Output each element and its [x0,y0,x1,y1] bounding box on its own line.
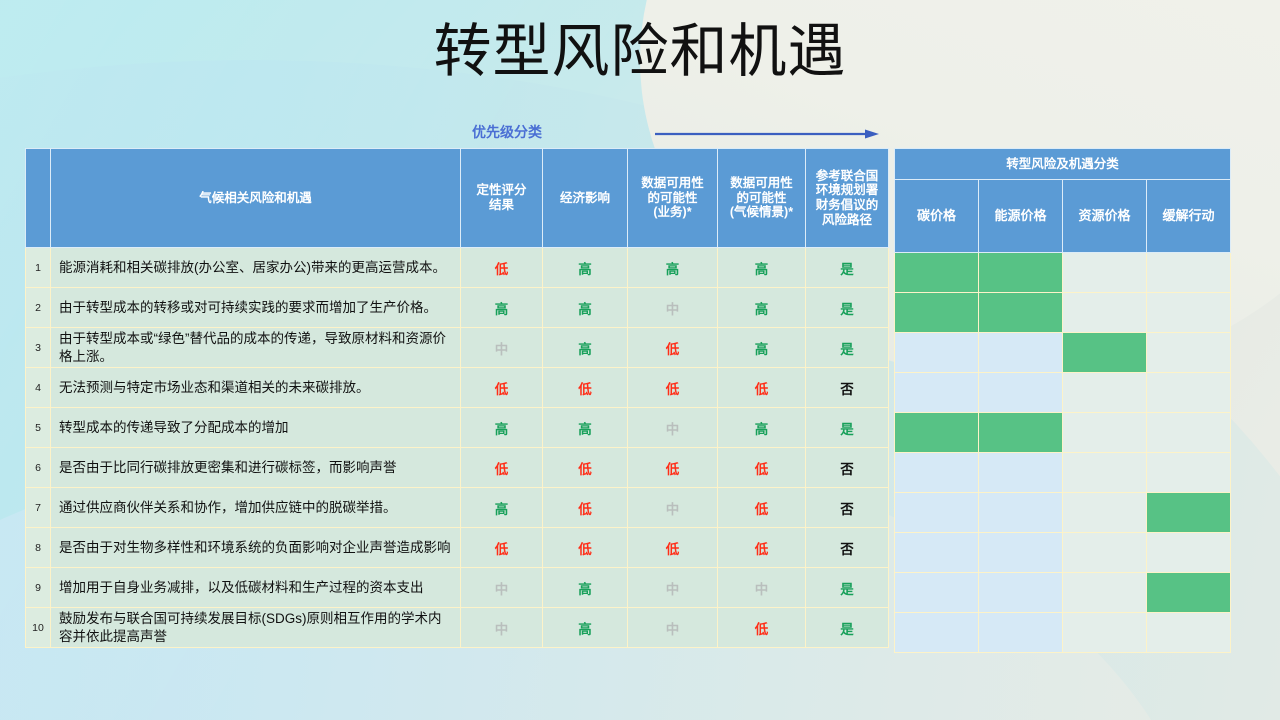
row-data-availability-climate-value: 中 [755,582,769,597]
category-cell-2 [979,413,1063,453]
category-cell-1 [895,293,979,333]
row-economic-impact: 高 [543,288,628,328]
row-data-availability-business-value: 低 [666,542,680,557]
col-header-category-3: 资源价格 [1063,180,1147,253]
row-qualitative-score: 低 [461,528,543,568]
priority-arrow-icon [655,128,879,140]
row-unep-pathway: 否 [806,368,889,408]
row-qualitative-score-value: 低 [495,462,509,477]
row-unep-pathway: 是 [806,408,889,448]
category-cell-2 [979,293,1063,333]
row-data-availability-climate: 低 [718,528,806,568]
row-economic-impact: 低 [543,448,628,488]
row-data-availability-climate: 高 [718,288,806,328]
row-unep-pathway: 是 [806,328,889,368]
row-description: 转型成本的传递导致了分配成本的增加 [51,408,461,448]
row-economic-impact: 低 [543,488,628,528]
category-cell-2 [979,573,1063,613]
row-data-availability-climate-value: 高 [755,262,769,277]
row-data-availability-business: 中 [628,288,718,328]
row-qualitative-score: 高 [461,288,543,328]
page-title: 转型风险和机遇 [0,22,1280,83]
row-data-availability-business-value: 中 [666,622,680,637]
row-unep-pathway-value: 是 [840,622,854,637]
category-cell-2 [979,493,1063,533]
row-economic-impact: 高 [543,328,628,368]
category-row [895,293,1231,333]
row-unep-pathway: 是 [806,248,889,288]
category-cell-1 [895,453,979,493]
row-description: 由于转型成本的转移或对可持续实践的要求而增加了生产价格。 [51,288,461,328]
row-data-availability-climate: 低 [718,608,806,648]
table-row: 7通过供应商伙伴关系和协作，增加供应链中的脱碳举措。高低中低否 [26,488,889,528]
row-unep-pathway-value: 是 [840,422,854,437]
category-cell-4 [1147,453,1231,493]
row-unep-pathway: 否 [806,448,889,488]
row-number: 6 [26,448,51,488]
row-data-availability-business-value: 中 [666,582,680,597]
row-economic-impact: 高 [543,408,628,448]
category-table-body [895,253,1231,653]
category-cell-1 [895,373,979,413]
row-unep-pathway: 是 [806,608,889,648]
row-qualitative-score-value: 中 [495,622,509,637]
row-data-availability-climate-value: 低 [755,622,769,637]
risk-table-head: 气候相关风险和机遇 定性评分结果 经济影响 数据可用性的可能性(业务)* 数据可… [26,149,889,248]
category-cell-4 [1147,373,1231,413]
row-number: 8 [26,528,51,568]
table-row: 9增加用于自身业务减排，以及低碳材料和生产过程的资本支出中高中中是 [26,568,889,608]
row-unep-pathway-value: 否 [840,542,854,557]
row-data-availability-business-value: 中 [666,302,680,317]
table-row: 3由于转型成本或“绿色”替代品的成本的传递，导致原材料和资源价格上涨。中高低高是 [26,328,889,368]
category-table: 转型风险及机遇分类 碳价格能源价格资源价格缓解行动 [894,148,1231,653]
row-qualitative-score-value: 高 [495,502,509,517]
row-number: 3 [26,328,51,368]
category-cell-4 [1147,573,1231,613]
row-data-availability-climate: 低 [718,488,806,528]
col-header-data-availability-business: 数据可用性的可能性(业务)* [628,149,718,248]
row-unep-pathway-value: 是 [840,262,854,277]
col-header-category-2: 能源价格 [979,180,1063,253]
col-header-number [26,149,51,248]
row-description: 能源消耗和相关碳排放(办公室、居家办公)带来的更高运营成本。 [51,248,461,288]
row-economic-impact-value: 低 [578,382,592,397]
row-unep-pathway-value: 是 [840,582,854,597]
row-data-availability-climate: 高 [718,328,806,368]
row-qualitative-score: 中 [461,568,543,608]
row-unep-pathway-value: 否 [840,462,854,477]
category-cell-2 [979,453,1063,493]
row-unep-pathway: 否 [806,528,889,568]
table-row: 8是否由于对生物多样性和环境系统的负面影响对企业声誉造成影响低低低低否 [26,528,889,568]
row-qualitative-score: 中 [461,328,543,368]
priority-legend: 优先级分类 [0,122,1280,146]
category-row [895,533,1231,573]
row-qualitative-score: 低 [461,248,543,288]
row-economic-impact: 低 [543,368,628,408]
row-number: 10 [26,608,51,648]
row-qualitative-score-value: 高 [495,302,509,317]
category-cell-3 [1063,493,1147,533]
category-cell-3 [1063,413,1147,453]
table-row: 1能源消耗和相关碳排放(办公室、居家办公)带来的更高运营成本。低高高高是 [26,248,889,288]
priority-label: 优先级分类 [472,122,542,142]
row-number: 4 [26,368,51,408]
row-data-availability-climate-value: 低 [755,382,769,397]
risk-table: 气候相关风险和机遇 定性评分结果 经济影响 数据可用性的可能性(业务)* 数据可… [25,148,889,648]
category-cell-1 [895,613,979,653]
row-description: 通过供应商伙伴关系和协作，增加供应链中的脱碳举措。 [51,488,461,528]
risk-table-body: 1能源消耗和相关碳排放(办公室、居家办公)带来的更高运营成本。低高高高是2由于转… [26,248,889,648]
category-row [895,613,1231,653]
row-economic-impact-value: 高 [578,302,592,317]
row-economic-impact: 高 [543,248,628,288]
col-header-description: 气候相关风险和机遇 [51,149,461,248]
category-row [895,453,1231,493]
category-cell-3 [1063,333,1147,373]
category-cell-4 [1147,333,1231,373]
category-cell-2 [979,333,1063,373]
row-data-availability-climate-value: 高 [755,342,769,357]
col-header-economic-impact: 经济影响 [543,149,628,248]
category-row [895,493,1231,533]
category-cell-1 [895,493,979,533]
row-description: 无法预测与特定市场业态和渠道相关的未来碳排放。 [51,368,461,408]
table-row: 4无法预测与特定市场业态和渠道相关的未来碳排放。低低低低否 [26,368,889,408]
row-data-availability-climate-value: 低 [755,502,769,517]
category-cell-1 [895,573,979,613]
category-cell-2 [979,253,1063,293]
row-data-availability-business-value: 中 [666,502,680,517]
row-qualitative-score-value: 高 [495,422,509,437]
category-cell-3 [1063,453,1147,493]
row-qualitative-score-value: 中 [495,582,509,597]
row-qualitative-score: 低 [461,368,543,408]
row-data-availability-climate: 低 [718,368,806,408]
row-qualitative-score: 高 [461,488,543,528]
row-data-availability-business: 中 [628,488,718,528]
category-cell-4 [1147,493,1231,533]
row-data-availability-business-value: 中 [666,422,680,437]
row-data-availability-climate: 低 [718,448,806,488]
row-unep-pathway: 是 [806,568,889,608]
row-qualitative-score: 高 [461,408,543,448]
col-header-category-4: 缓解行动 [1147,180,1231,253]
row-data-availability-business: 高 [628,248,718,288]
category-cell-3 [1063,533,1147,573]
risk-matrix: 气候相关风险和机遇 定性评分结果 经济影响 数据可用性的可能性(业务)* 数据可… [25,148,1231,653]
row-number: 9 [26,568,51,608]
row-data-availability-business: 低 [628,448,718,488]
row-description: 增加用于自身业务减排，以及低碳材料和生产过程的资本支出 [51,568,461,608]
row-data-availability-business: 中 [628,608,718,648]
table-row: 10鼓励发布与联合国可持续发展目标(SDGs)原则相互作用的学术内容并依此提高声… [26,608,889,648]
category-cell-3 [1063,253,1147,293]
row-data-availability-climate: 高 [718,248,806,288]
row-number: 5 [26,408,51,448]
row-qualitative-score-value: 低 [495,382,509,397]
category-row [895,253,1231,293]
category-cell-4 [1147,253,1231,293]
row-data-availability-business-value: 低 [666,462,680,477]
row-economic-impact: 高 [543,608,628,648]
row-data-availability-business-value: 低 [666,382,680,397]
row-data-availability-business-value: 低 [666,342,680,357]
category-cell-1 [895,533,979,573]
col-header-category-1: 碳价格 [895,180,979,253]
col-header-qualitative-score: 定性评分结果 [461,149,543,248]
row-description: 由于转型成本或“绿色”替代品的成本的传递，导致原材料和资源价格上涨。 [51,328,461,368]
row-data-availability-climate-value: 低 [755,542,769,557]
row-qualitative-score-value: 低 [495,262,509,277]
row-data-availability-climate-value: 高 [755,302,769,317]
row-unep-pathway-value: 是 [840,302,854,317]
row-unep-pathway-value: 否 [840,502,854,517]
row-unep-pathway: 否 [806,488,889,528]
row-data-availability-climate: 中 [718,568,806,608]
col-header-data-availability-climate: 数据可用性的可能性(气候情景)* [718,149,806,248]
category-cell-2 [979,613,1063,653]
row-data-availability-business: 低 [628,528,718,568]
row-data-availability-business: 低 [628,368,718,408]
row-data-availability-climate-value: 低 [755,462,769,477]
row-number: 1 [26,248,51,288]
category-row [895,573,1231,613]
row-unep-pathway: 是 [806,288,889,328]
row-description: 是否由于比同行碳排放更密集和进行碳标签，而影响声誉 [51,448,461,488]
category-row [895,373,1231,413]
category-cell-3 [1063,373,1147,413]
category-table-head: 转型风险及机遇分类 碳价格能源价格资源价格缓解行动 [895,149,1231,253]
row-economic-impact-value: 低 [578,502,592,517]
row-unep-pathway-value: 否 [840,382,854,397]
category-cell-2 [979,373,1063,413]
row-economic-impact-value: 高 [578,622,592,637]
row-economic-impact-value: 低 [578,462,592,477]
category-cell-1 [895,413,979,453]
row-data-availability-climate-value: 高 [755,422,769,437]
row-number: 2 [26,288,51,328]
category-cell-1 [895,253,979,293]
table-row: 6是否由于比同行碳排放更密集和进行碳标签，而影响声誉低低低低否 [26,448,889,488]
col-header-unep-pathway: 参考联合国环境规划署财务倡议的风险路径 [806,149,889,248]
category-cell-3 [1063,293,1147,333]
row-economic-impact-value: 高 [578,582,592,597]
category-cell-3 [1063,613,1147,653]
row-description: 是否由于对生物多样性和环境系统的负面影响对企业声誉造成影响 [51,528,461,568]
row-number: 7 [26,488,51,528]
row-economic-impact-value: 低 [578,542,592,557]
row-economic-impact: 低 [543,528,628,568]
category-cell-4 [1147,293,1231,333]
category-row [895,333,1231,373]
category-cell-3 [1063,573,1147,613]
row-economic-impact-value: 高 [578,262,592,277]
row-qualitative-score-value: 低 [495,542,509,557]
row-data-availability-climate: 高 [718,408,806,448]
row-data-availability-business-value: 高 [666,262,680,277]
col-header-category-group: 转型风险及机遇分类 [895,149,1231,180]
row-unep-pathway-value: 是 [840,342,854,357]
row-data-availability-business: 中 [628,408,718,448]
table-row: 5转型成本的传递导致了分配成本的增加高高中高是 [26,408,889,448]
category-cell-1 [895,333,979,373]
category-cell-4 [1147,613,1231,653]
row-qualitative-score: 低 [461,448,543,488]
row-data-availability-business: 低 [628,328,718,368]
row-qualitative-score: 中 [461,608,543,648]
table-row: 2由于转型成本的转移或对可持续实践的要求而增加了生产价格。高高中高是 [26,288,889,328]
row-qualitative-score-value: 中 [495,342,509,357]
row-data-availability-business: 中 [628,568,718,608]
category-cell-2 [979,533,1063,573]
row-economic-impact-value: 高 [578,422,592,437]
category-cell-4 [1147,413,1231,453]
category-cell-4 [1147,533,1231,573]
row-economic-impact: 高 [543,568,628,608]
category-row [895,413,1231,453]
row-economic-impact-value: 高 [578,342,592,357]
row-description: 鼓励发布与联合国可持续发展目标(SDGs)原则相互作用的学术内容并依此提高声誉 [51,608,461,648]
